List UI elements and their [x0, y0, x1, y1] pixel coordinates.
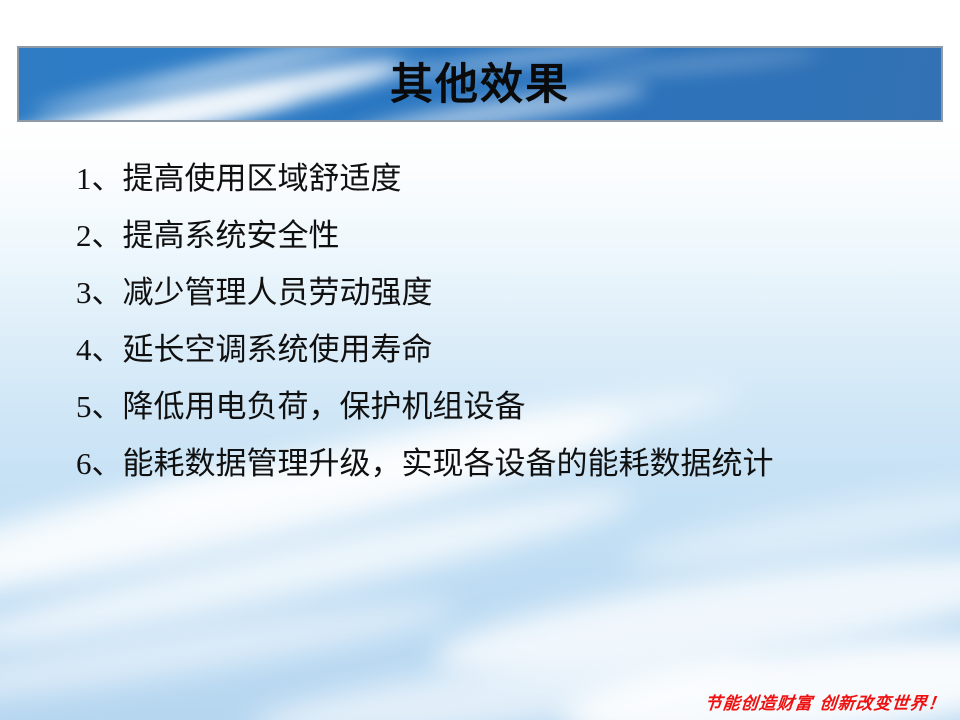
- slide-title: 其他效果: [19, 48, 941, 122]
- slide-canvas: 其他效果 1、提高使用区域舒适度 2、提高系统安全性 3、减少管理人员劳动强度 …: [0, 0, 960, 720]
- title-banner: 其他效果: [17, 46, 943, 122]
- list-item: 1、提高使用区域舒适度: [76, 150, 916, 207]
- list-item: 2、提高系统安全性: [76, 207, 916, 264]
- footer-slogan: 节能创造财富 创新改变世界！: [704, 689, 948, 714]
- list-item: 6、能耗数据管理升级，实现各设备的能耗数据统计: [76, 435, 916, 492]
- list-item: 3、减少管理人员劳动强度: [76, 264, 916, 321]
- list-item: 5、降低用电负荷，保护机组设备: [76, 378, 916, 435]
- list-item: 4、延长空调系统使用寿命: [76, 321, 916, 378]
- bullet-list: 1、提高使用区域舒适度 2、提高系统安全性 3、减少管理人员劳动强度 4、延长空…: [76, 150, 916, 492]
